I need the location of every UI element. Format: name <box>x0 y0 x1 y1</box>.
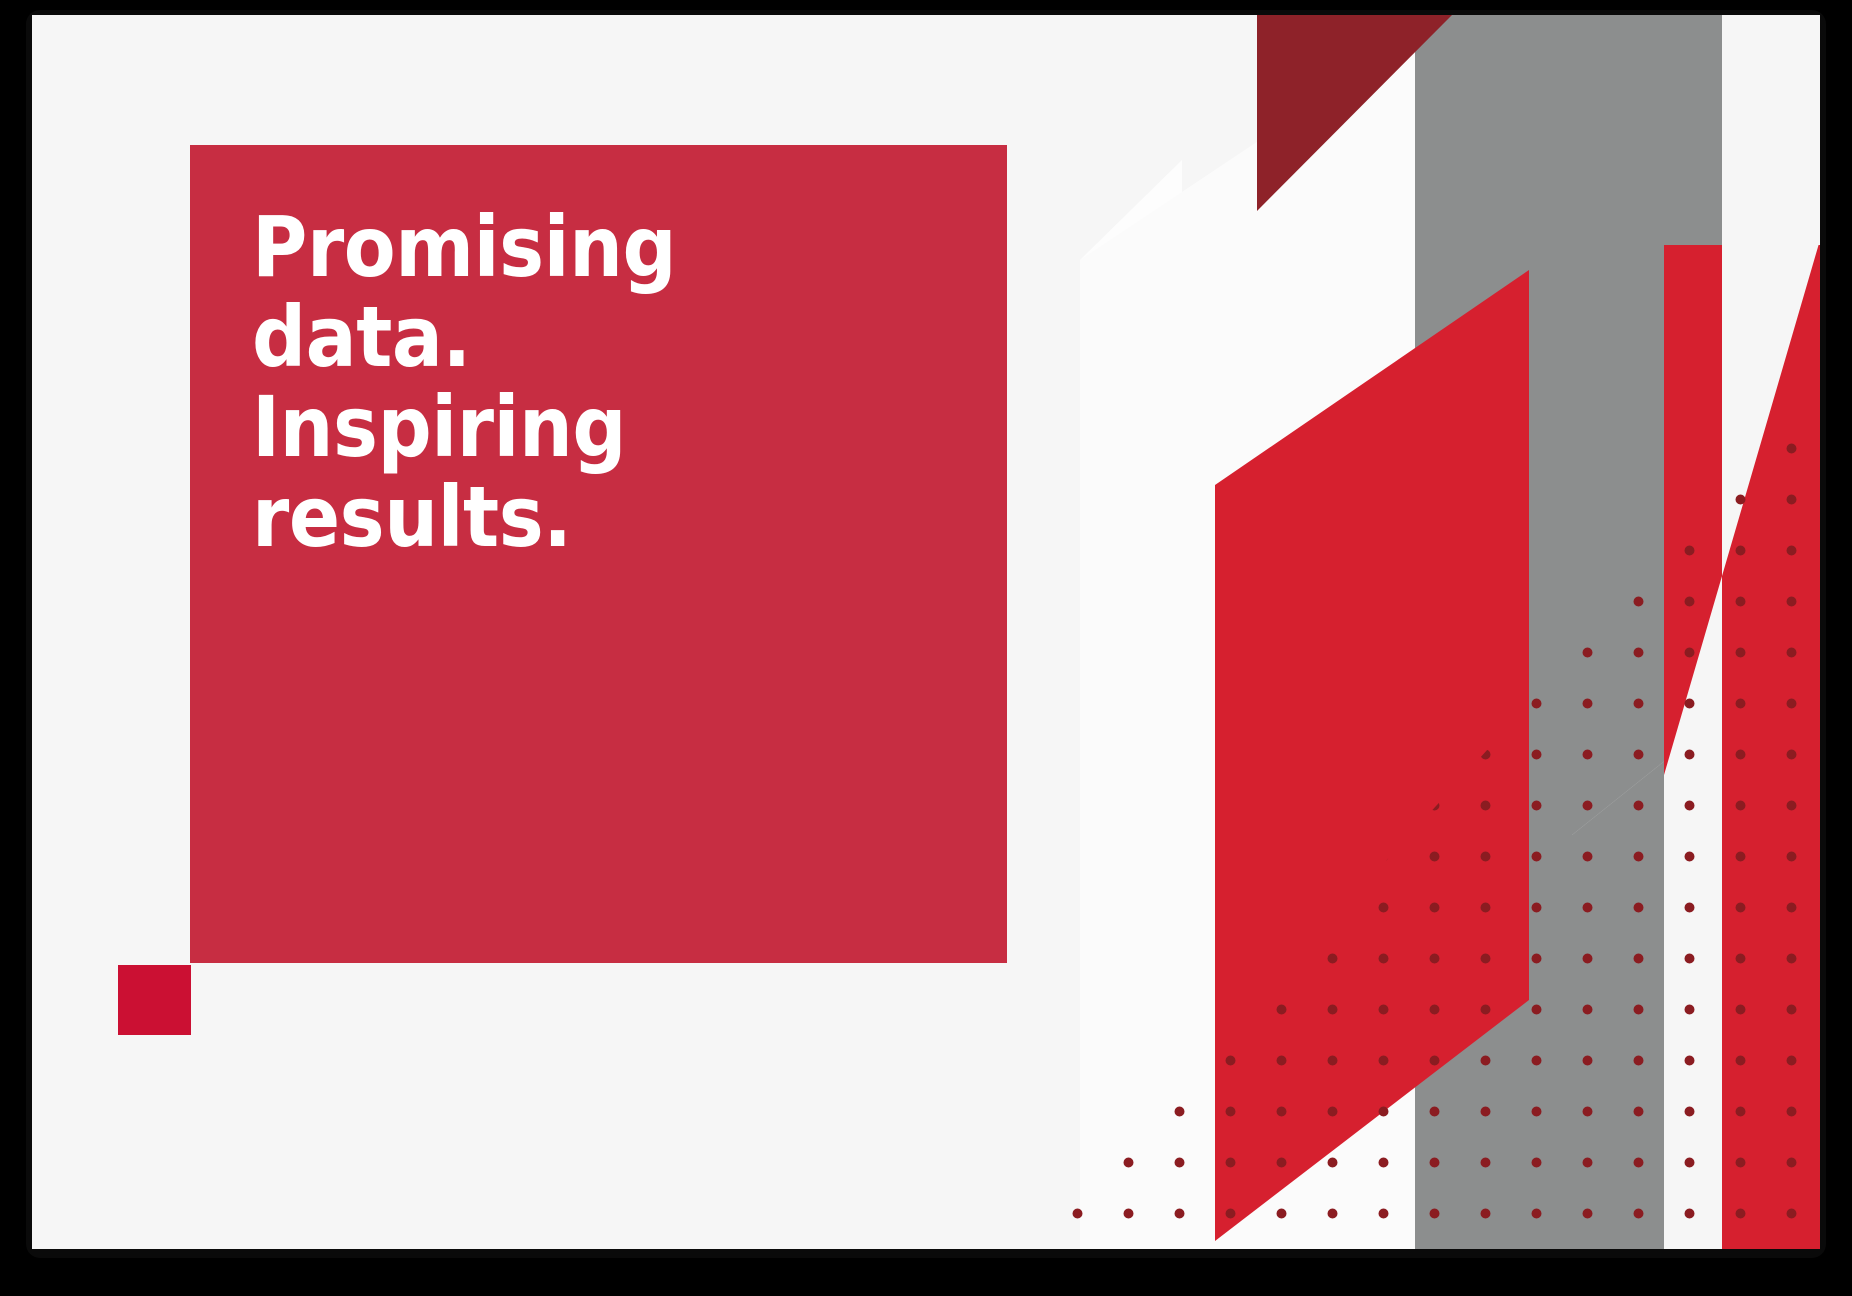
right-red-column-top <box>1664 245 1820 775</box>
page-title: Promising data. Inspiring results. <box>252 203 882 563</box>
right-red-column-shape <box>1664 245 1820 1249</box>
slide-canvas: Promising data. Inspiring results. <box>32 15 1820 1249</box>
red-parallelogram-shape <box>1215 270 1529 1241</box>
dot-grid-overlay <box>992 355 1820 1249</box>
dark-red-triangle-shape <box>1257 15 1452 211</box>
slide-stage: Promising data. Inspiring results. <box>0 0 1852 1296</box>
gray-column-shape <box>1415 15 1722 1249</box>
white-gap-shape <box>1664 15 1820 1249</box>
gray-lower-wedge <box>1572 715 1722 1249</box>
accent-square <box>118 965 191 1035</box>
white-panel-body <box>1080 15 1447 1249</box>
white-panel-shape <box>1080 160 1182 1249</box>
title-block: Promising data. Inspiring results. <box>190 145 1007 963</box>
